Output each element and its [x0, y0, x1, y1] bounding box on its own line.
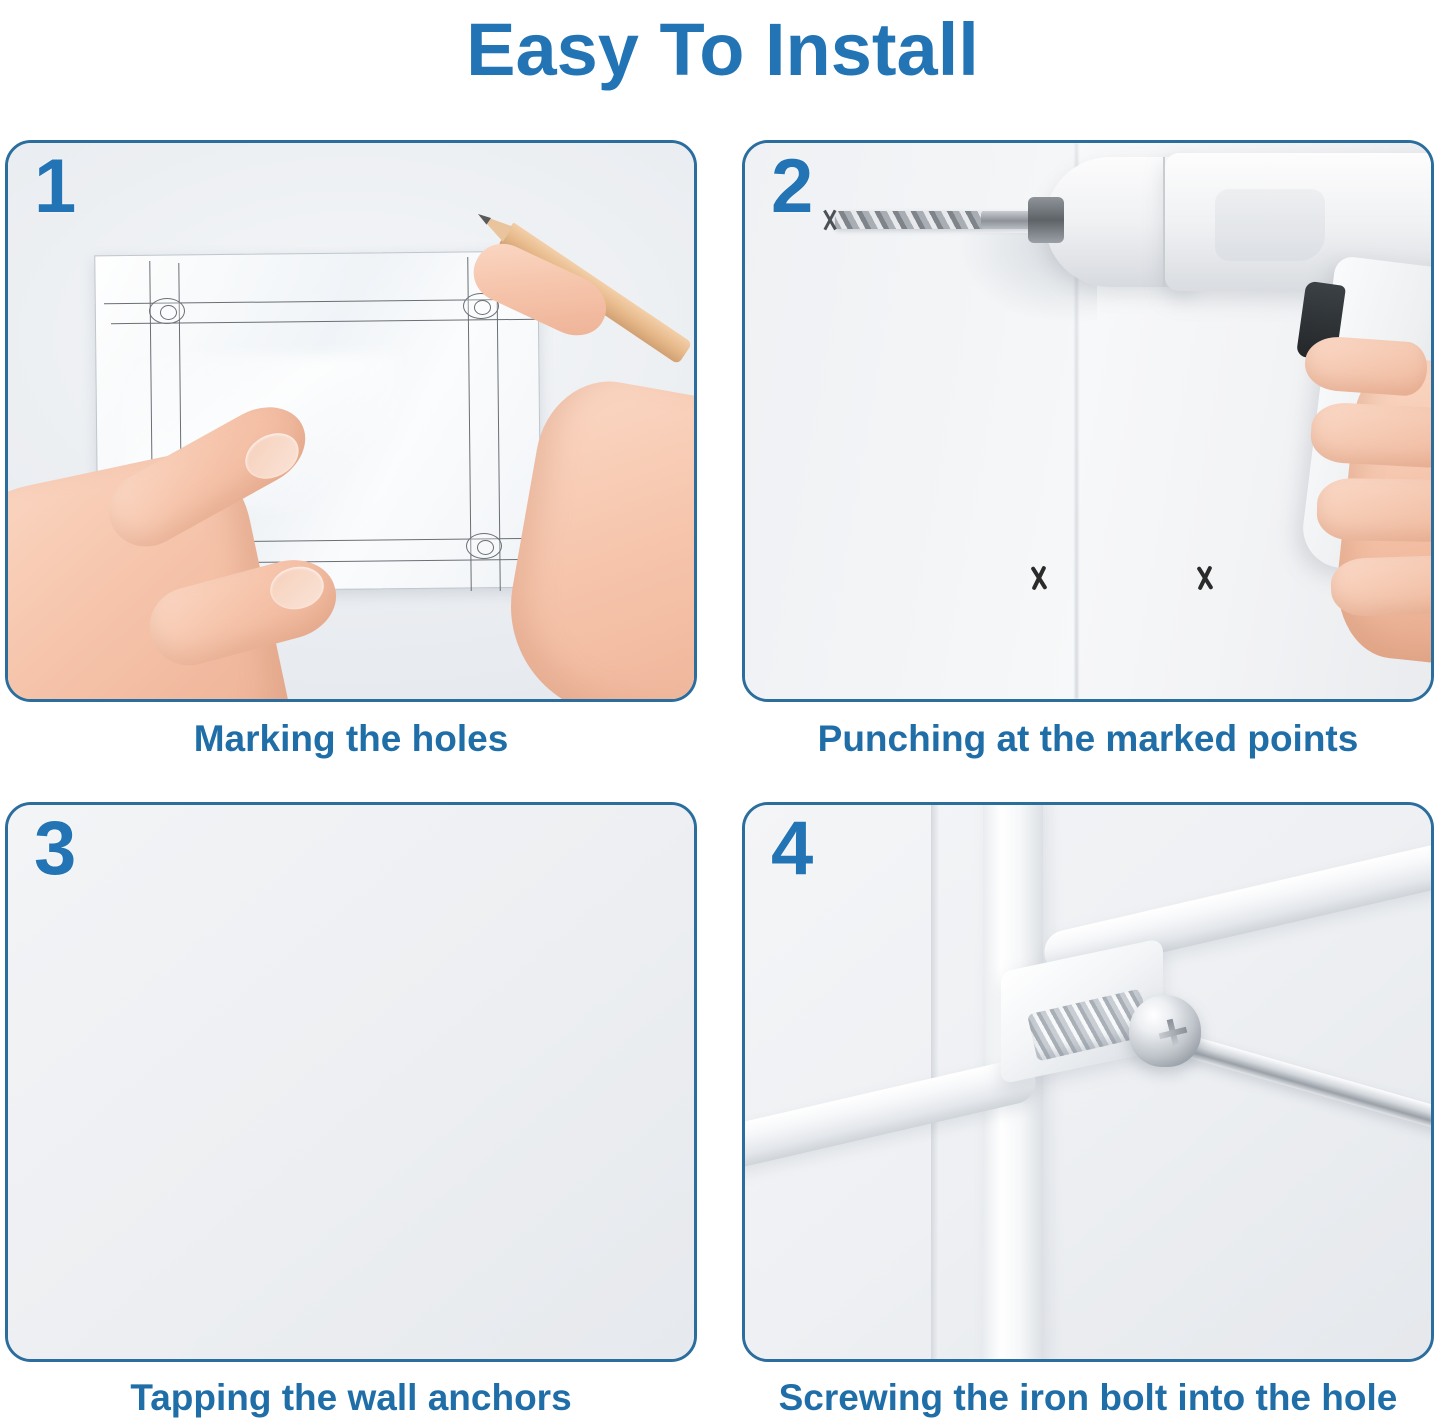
step-card-3: 3 Tapping the wall anchors	[5, 802, 697, 1362]
step-1-number: 1	[34, 149, 76, 225]
drill-seam	[1163, 157, 1165, 287]
screwdriver	[1178, 1033, 1434, 1137]
step-4-number: 4	[771, 811, 813, 887]
drill-vent	[1215, 189, 1325, 261]
step-2-number: 2	[771, 149, 813, 225]
step-2-image-panel: 2	[742, 140, 1434, 702]
template-hole-marker-bottom-right	[466, 533, 502, 559]
template-hole-marker-top-left	[149, 298, 185, 324]
step-4-caption: Screwing the iron bolt into the hole	[742, 1374, 1434, 1422]
step-card-1: 1 Marking the holes	[5, 140, 697, 702]
step-1-caption: Marking the holes	[5, 715, 697, 763]
scene-tapping-the-wall-anchors	[8, 805, 694, 1359]
drill-bit-tip	[819, 209, 841, 231]
step-3-number: 3	[34, 811, 76, 887]
operator-middle-finger	[1310, 401, 1434, 468]
operator-ring-finger	[1316, 478, 1434, 542]
step-3-image-panel: 3	[5, 802, 697, 1362]
wall-mark-x-left	[1026, 565, 1052, 591]
step-4-image-panel: 4	[742, 802, 1434, 1362]
install-steps-grid: 1 Marking the holes	[0, 0, 1445, 1427]
operator-little-finger	[1330, 555, 1434, 617]
step-1-image-panel: 1	[5, 140, 697, 702]
step-2-caption: Punching at the marked points	[742, 715, 1434, 763]
wall-mark-x-right	[1192, 565, 1218, 591]
step-3-caption: Tapping the wall anchors	[5, 1374, 697, 1422]
drill-chuck	[1028, 197, 1064, 243]
scene-punching-at-the-marked-points	[745, 143, 1431, 699]
step-card-4: 4 Screwing the iron bolt into the hole	[742, 802, 1434, 1362]
step-card-2: 2 Punching at the marked points	[742, 140, 1434, 702]
scene-marking-the-holes	[8, 143, 694, 699]
scene-screwing-the-iron-bolt-into-the-hole	[745, 805, 1431, 1359]
